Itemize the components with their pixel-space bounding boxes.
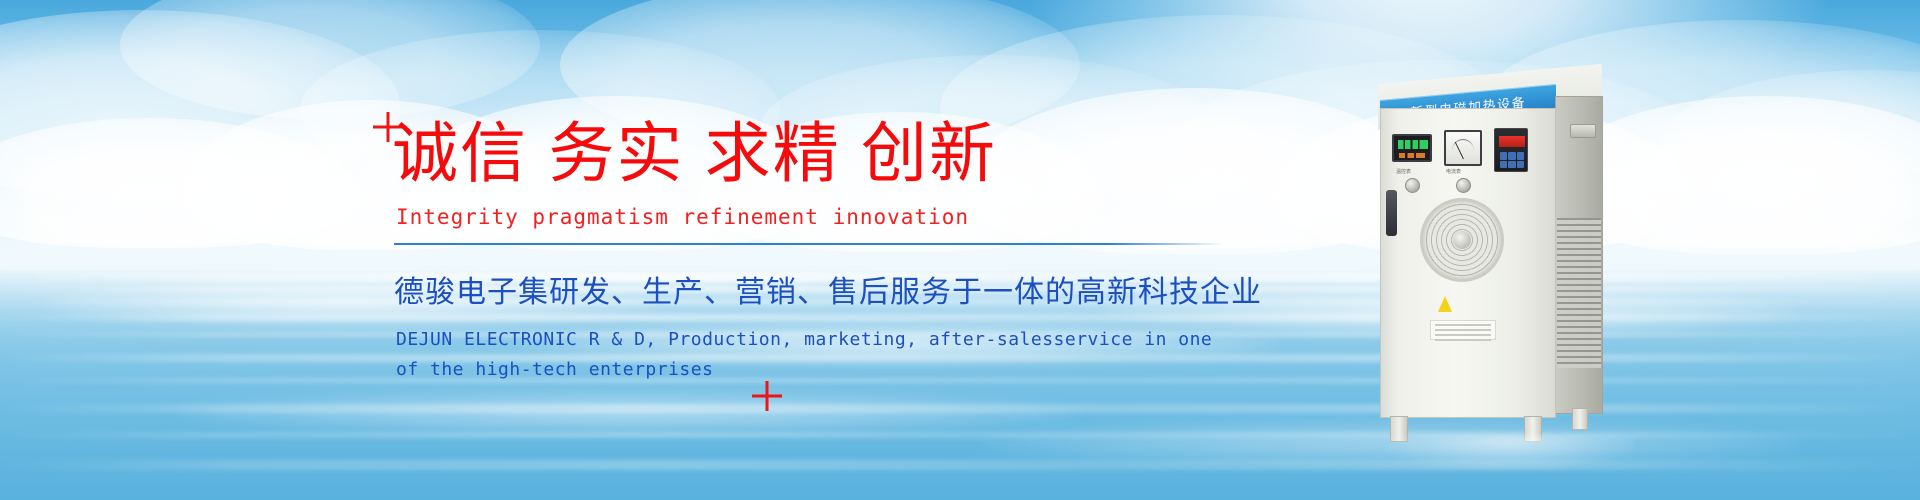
- tagline-english-line1: DEJUN ELECTRONIC R & D, Production, mark…: [396, 325, 1272, 355]
- control-keypad: [1494, 128, 1528, 172]
- panel-label-left: 温控表: [1396, 168, 1411, 175]
- water-glare: [180, 390, 1080, 434]
- display-segment-orange: [1399, 153, 1425, 158]
- keypad-display-bar: [1499, 136, 1525, 147]
- headline-english: Integrity pragmatism refinement innovati…: [396, 205, 1272, 229]
- side-vent-panel: [1557, 218, 1601, 368]
- machine-reflection: [1384, 436, 1634, 470]
- control-knob-right: [1456, 178, 1471, 193]
- digital-display: [1392, 134, 1432, 162]
- panel-label-right: 电流表: [1446, 168, 1461, 175]
- keypad-key: [1508, 152, 1515, 160]
- decal-line: [1435, 334, 1491, 336]
- fan-grille: [1420, 198, 1504, 282]
- divider-rule: [394, 243, 1224, 245]
- decal-line: [1435, 324, 1491, 326]
- keypad-key: [1500, 161, 1507, 169]
- door-latch: [1386, 190, 1397, 236]
- spec-decal: [1430, 320, 1496, 340]
- side-handle: [1570, 124, 1596, 138]
- product-machine: 新型电磁加热设备 温控表 电流表: [1374, 68, 1642, 440]
- decal-line: [1435, 329, 1491, 331]
- decal-line: [1435, 339, 1491, 341]
- keypad-key: [1508, 161, 1515, 169]
- keypad-key: [1517, 152, 1524, 160]
- keypad-key: [1500, 152, 1507, 160]
- tagline-chinese: 德骏电子集研发、生产、营销、售后服务于一体的高新科技企业: [394, 267, 1272, 311]
- headline-chinese: 诚信 务实 求精 创新: [392, 118, 1272, 189]
- machine-leg: [1572, 408, 1588, 430]
- tagline-english-line2: of the high-tech enterprises: [396, 355, 1272, 385]
- keypad-keys: [1500, 152, 1524, 168]
- keypad-key: [1517, 161, 1524, 169]
- banner-copy: 诚信 务实 求精 创新 Integrity pragmatism refinem…: [392, 118, 1272, 385]
- display-segment-green: [1398, 140, 1428, 149]
- control-knob-left: [1405, 178, 1420, 193]
- tagline-english: DEJUN ELECTRONIC R & D, Production, mark…: [396, 325, 1272, 384]
- analog-gauge: [1444, 130, 1482, 166]
- promo-banner: 诚信 务实 求精 创新 Integrity pragmatism refinem…: [0, 0, 1920, 500]
